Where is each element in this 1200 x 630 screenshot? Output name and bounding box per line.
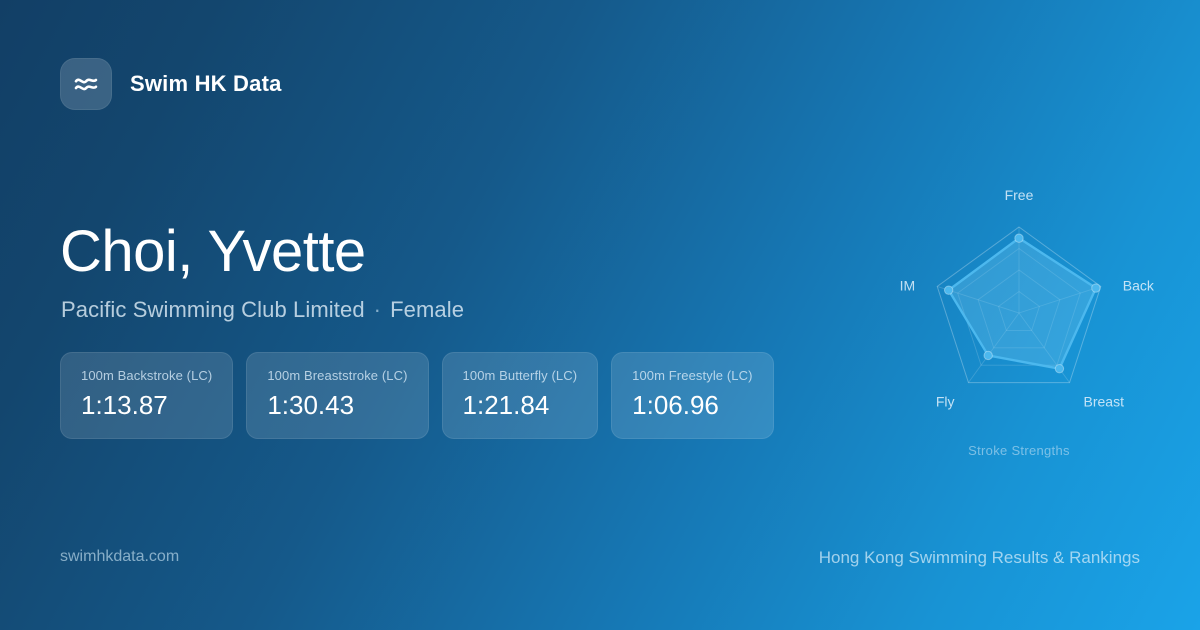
radar-data-point	[1092, 284, 1100, 292]
event-card-list: 100m Backstroke (LC) 1:13.87 100m Breast…	[60, 352, 774, 439]
radar-axis-label: Free	[1005, 187, 1034, 203]
radar-data-point	[1055, 364, 1063, 372]
footer-tagline: Hong Kong Swimming Results & Rankings	[819, 548, 1140, 568]
event-label: 100m Breaststroke (LC)	[267, 368, 407, 383]
event-card: 100m Butterfly (LC) 1:21.84	[442, 352, 599, 439]
event-label: 100m Butterfly (LC)	[463, 368, 578, 383]
radar-data-point	[944, 286, 952, 294]
wave-icon	[60, 58, 112, 110]
event-time: 1:06.96	[632, 390, 752, 421]
brand-lockup: Swim HK Data	[60, 58, 282, 110]
brand-name: Swim HK Data	[130, 71, 282, 97]
event-time: 1:30.43	[267, 390, 407, 421]
event-time: 1:13.87	[81, 390, 212, 421]
event-label: 100m Freestyle (LC)	[632, 368, 752, 383]
event-card: 100m Backstroke (LC) 1:13.87	[60, 352, 233, 439]
radar-data-polygon	[949, 238, 1096, 368]
radar-axis-label: Back	[1123, 277, 1155, 293]
athlete-club: Pacific Swimming Club Limited	[61, 297, 365, 322]
meta-separator: ·	[365, 297, 390, 322]
athlete-gender: Female	[390, 297, 464, 322]
radar-data-point	[984, 351, 992, 359]
radar-axis-label: IM	[900, 277, 916, 293]
athlete-meta: Pacific Swimming Club Limited·Female	[61, 297, 464, 323]
event-card: 100m Breaststroke (LC) 1:30.43	[246, 352, 428, 439]
page-title: Choi, Yvette	[60, 222, 366, 283]
radar-data-point	[1015, 234, 1023, 242]
event-time: 1:21.84	[463, 390, 578, 421]
event-card: 100m Freestyle (LC) 1:06.96	[611, 352, 773, 439]
radar-caption: Stroke Strengths	[869, 443, 1169, 458]
stroke-strengths-radar-chart: FreeBackBreastFlyIM	[869, 170, 1169, 470]
og-card: Swim HK Data Choi, Yvette Pacific Swimmi…	[0, 0, 1200, 630]
footer-site: swimhkdata.com	[60, 548, 179, 566]
event-label: 100m Backstroke (LC)	[81, 368, 212, 383]
radar-axis-label: Breast	[1084, 394, 1125, 410]
radar-axis-label: Fly	[936, 394, 955, 410]
